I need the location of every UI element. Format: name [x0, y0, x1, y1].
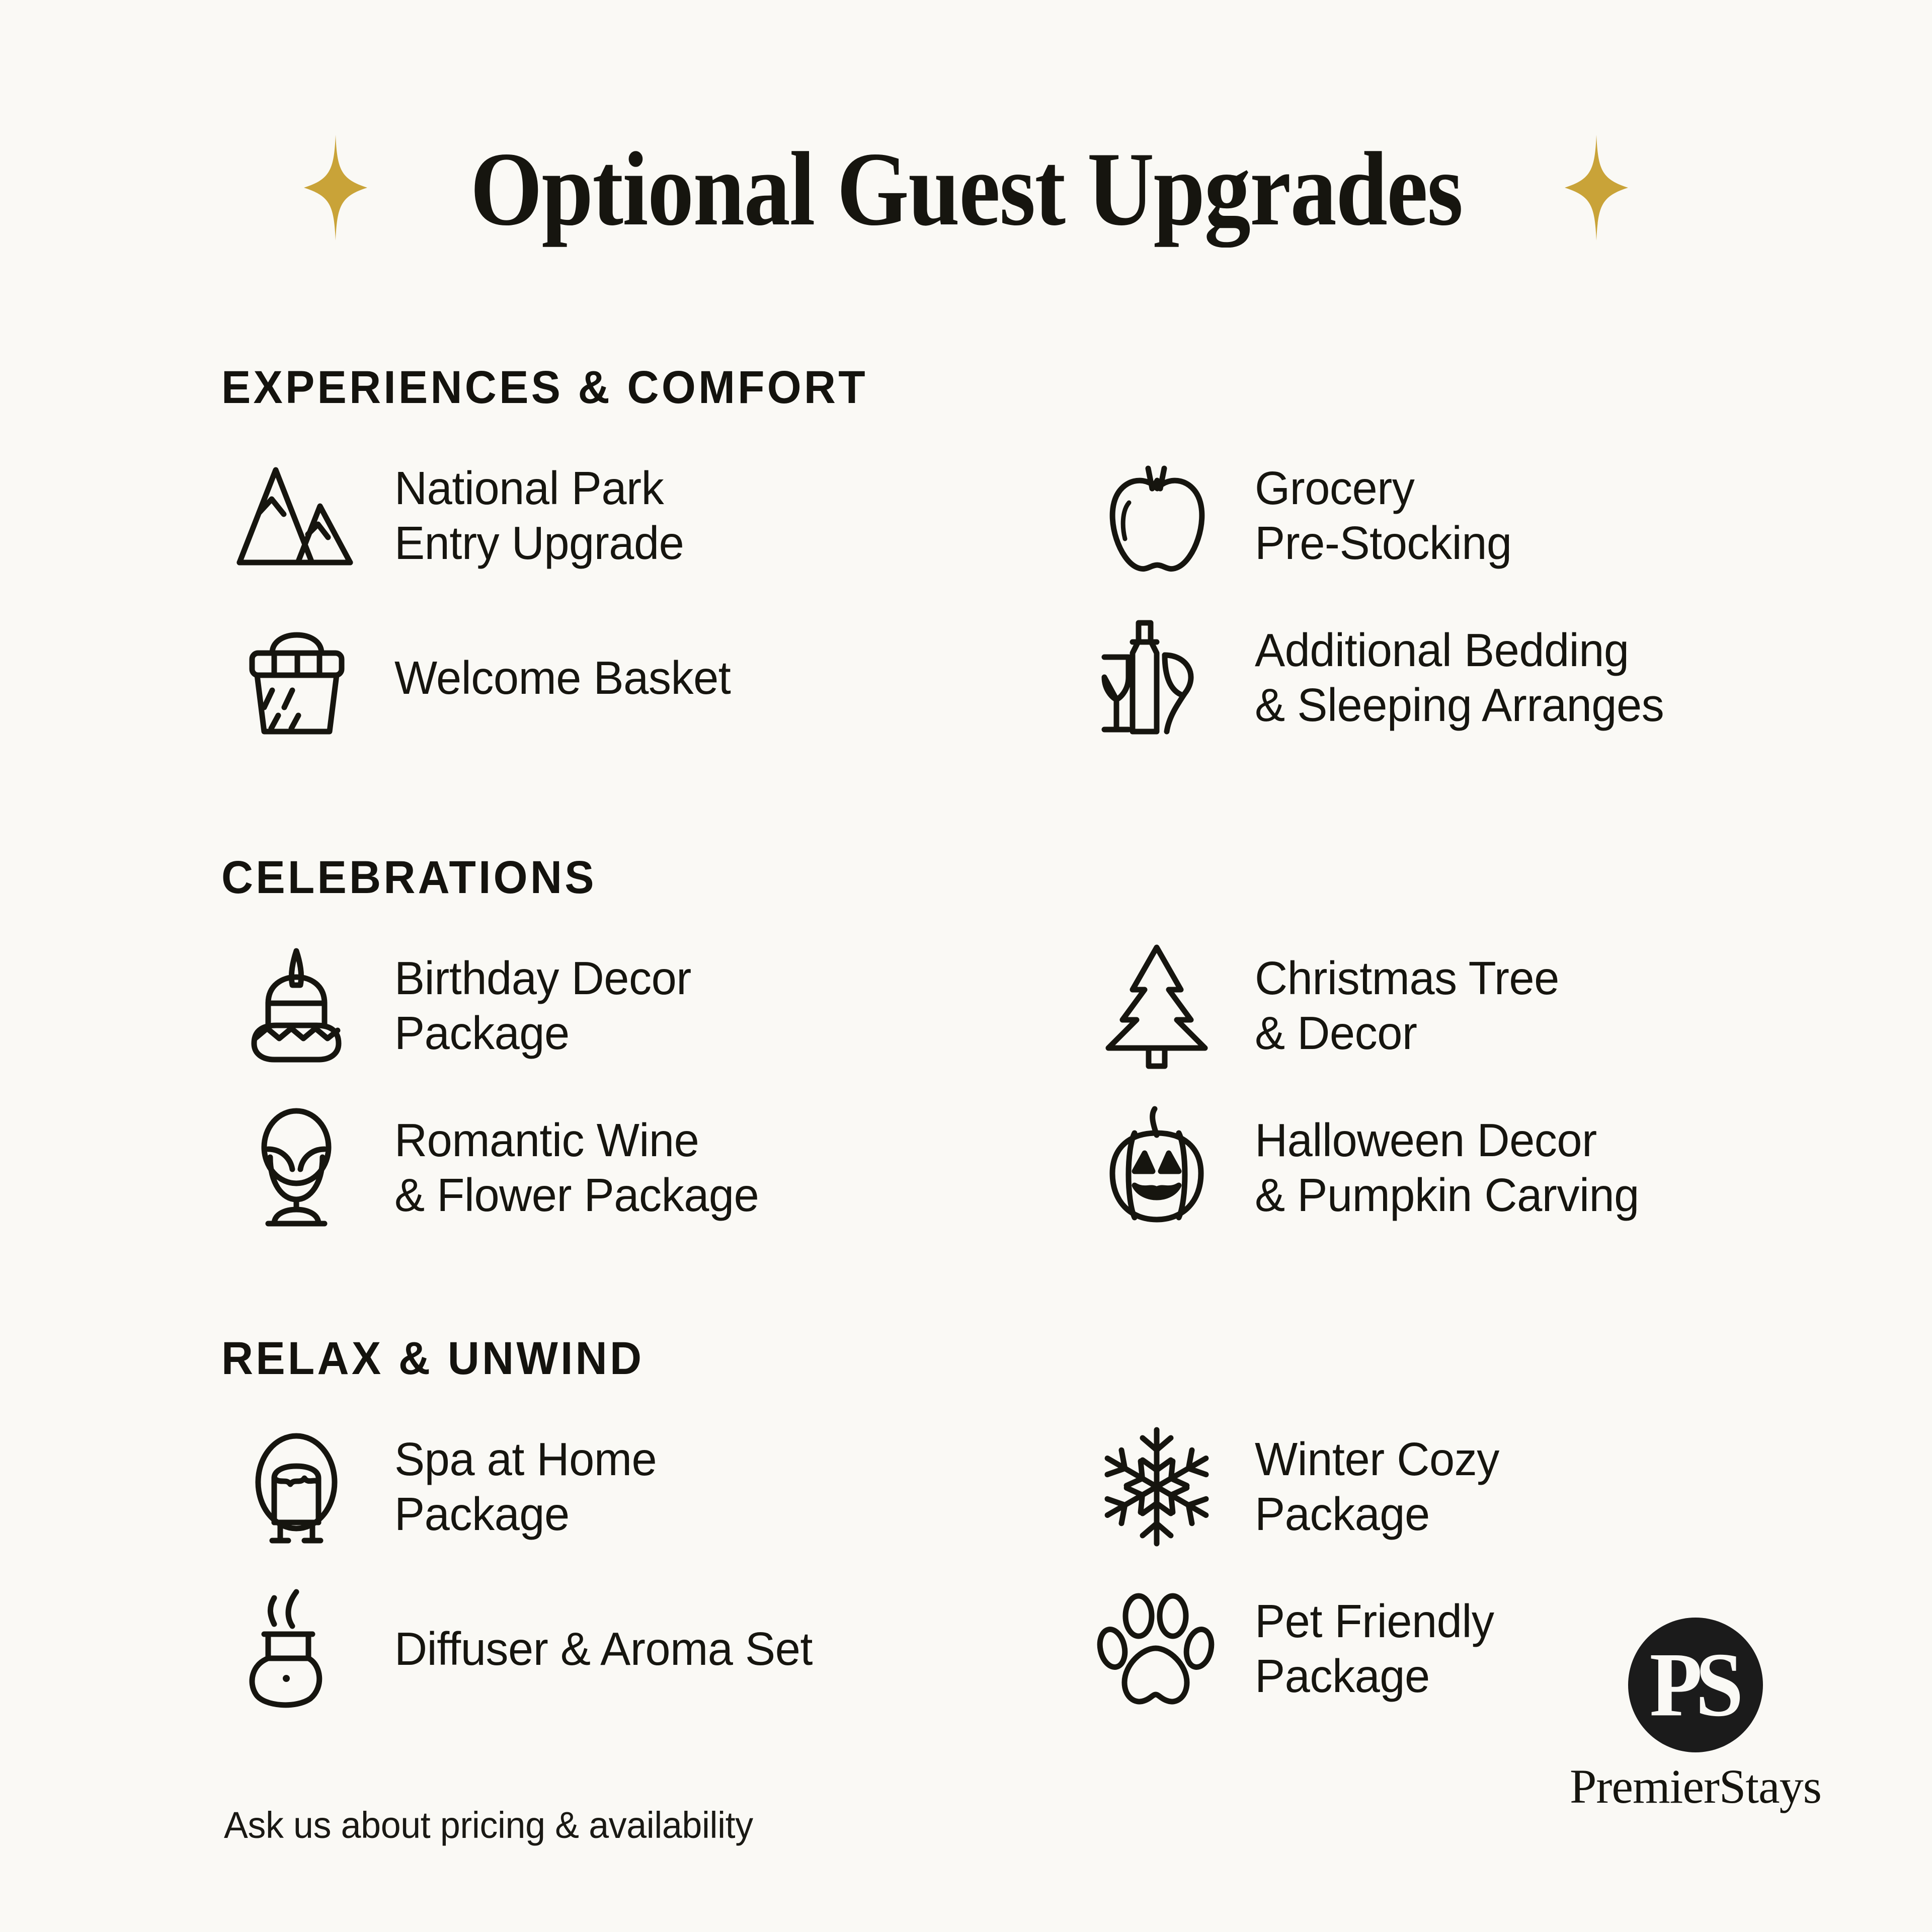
mountain-icon [221, 448, 372, 584]
page-header: Optional Guest Upgrades [0, 135, 1932, 243]
brand-logo: PS PremierStays [1555, 1618, 1836, 1811]
list-item-label-line2: Pre-Stocking [1255, 516, 1512, 571]
list-item-label: Winter Cozy Package [1255, 1432, 1499, 1542]
sparkle-star-icon [1565, 135, 1628, 243]
list-item-label-line2: Entry Upgrade [394, 516, 684, 571]
list-item[interactable]: Winter Cozy Package [1082, 1411, 1781, 1562]
section-items-grid: Birthday Decor Package Christmas Tree & … [221, 930, 1781, 1243]
list-item-label-line2: & Pumpkin Carving [1255, 1168, 1639, 1223]
list-item-label-line2: & Sleeping Arranges [1255, 678, 1664, 733]
section-title-experiences: EXPERIENCES & COMFORT [221, 361, 1703, 414]
apple-icon [1082, 448, 1233, 584]
pricing-availability-note: Ask us about pricing & availability [224, 1804, 753, 1846]
brand-monogram: PS [1650, 1639, 1742, 1731]
paw-print-icon [1082, 1581, 1233, 1717]
list-item-label: Diffuser & Aroma Set [394, 1622, 813, 1676]
birthday-cake-icon [221, 938, 372, 1074]
list-item[interactable]: Halloween Decor & Pumpkin Carving [1082, 1092, 1781, 1243]
wine-bottle-glass-icon [1082, 610, 1233, 746]
section-relax: RELAX & UNWIND Spa at Home Packag [221, 1332, 1781, 1724]
list-item[interactable]: Spa at Home Package [221, 1411, 1082, 1562]
wine-glass-icon [221, 1100, 372, 1236]
list-item-label: Pet Friendly Package [1255, 1594, 1494, 1704]
list-item-label-line2: & Decor [1255, 1006, 1559, 1061]
list-item[interactable]: Romantic Wine & Flower Package [221, 1092, 1082, 1243]
brand-badge-circle: PS [1628, 1618, 1763, 1752]
list-item-label-line2: Package [394, 1006, 691, 1061]
basket-icon [221, 610, 372, 746]
list-item-label-line2: & Flower Package [394, 1168, 759, 1223]
brand-name: PremierStays [1570, 1762, 1821, 1811]
list-item-label: Halloween Decor & Pumpkin Carving [1255, 1113, 1639, 1223]
section-items-grid: Spa at Home Package [221, 1411, 1781, 1724]
list-item[interactable]: Grocery Pre-Stocking [1082, 440, 1781, 591]
list-item-label-line1: Welcome Basket [394, 652, 731, 704]
sparkle-star-icon [304, 135, 367, 243]
page-title: Optional Guest Upgrades [470, 136, 1462, 242]
section-celebrations: CELEBRATIONS Birthday Decor Packa [221, 851, 1781, 1243]
list-item-label: Welcome Basket [394, 651, 731, 705]
pumpkin-icon [1082, 1100, 1233, 1236]
list-item-label: Romantic Wine & Flower Package [394, 1113, 759, 1223]
section-title-relax: RELAX & UNWIND [221, 1332, 1703, 1385]
section-title-celebrations: CELEBRATIONS [221, 851, 1703, 904]
list-item-label-line1: Pet Friendly [1255, 1595, 1494, 1647]
list-item[interactable]: Christmas Tree & Decor [1082, 930, 1781, 1081]
list-item-label-line1: Halloween Decor [1255, 1114, 1597, 1166]
list-item-label: Grocery Pre-Stocking [1255, 461, 1512, 571]
list-item-label: Spa at Home Package [394, 1432, 657, 1542]
list-item-label-line1: Additional Bedding [1255, 624, 1629, 676]
list-item[interactable]: Additional Bedding & Sleeping Arranges [1082, 602, 1781, 753]
list-item[interactable]: National Park Entry Upgrade [221, 440, 1082, 591]
list-item-label-line2: Package [1255, 1649, 1494, 1704]
list-item-label-line1: Romantic Wine [394, 1114, 699, 1166]
list-item[interactable]: Birthday Decor Package [221, 930, 1082, 1081]
list-item-label: Christmas Tree & Decor [1255, 951, 1559, 1061]
diffuser-icon [221, 1581, 372, 1717]
list-item-label-line1: Winter Cozy [1255, 1433, 1499, 1485]
section-items-grid: National Park Entry Upgrade Grocery [221, 440, 1781, 753]
section-experiences: EXPERIENCES & COMFORT National Park Entr… [221, 361, 1781, 753]
list-item-label: National Park Entry Upgrade [394, 461, 684, 571]
list-item[interactable]: Welcome Basket [221, 602, 1082, 753]
snowflake-icon [1082, 1419, 1233, 1555]
list-item-label-line2: Package [394, 1487, 657, 1542]
christmas-tree-icon [1082, 938, 1233, 1074]
list-item-label-line1: Birthday Decor [394, 952, 691, 1004]
list-item-label-line1: Spa at Home [394, 1433, 657, 1485]
list-item-label-line1: Diffuser & Aroma Set [394, 1623, 813, 1675]
list-item-label: Birthday Decor Package [394, 951, 691, 1061]
list-item-label-line1: National Park [394, 462, 664, 514]
list-item-label: Additional Bedding & Sleeping Arranges [1255, 623, 1664, 733]
list-item-label-line1: Grocery [1255, 462, 1414, 514]
list-item-label-line2: Package [1255, 1487, 1499, 1542]
spa-face-towel-icon [221, 1419, 372, 1555]
guest-upgrades-poster: Optional Guest Upgrades EXPERIENCES & CO… [0, 0, 1932, 1932]
list-item[interactable]: Diffuser & Aroma Set [221, 1573, 1082, 1724]
list-item-label-line1: Christmas Tree [1255, 952, 1559, 1004]
